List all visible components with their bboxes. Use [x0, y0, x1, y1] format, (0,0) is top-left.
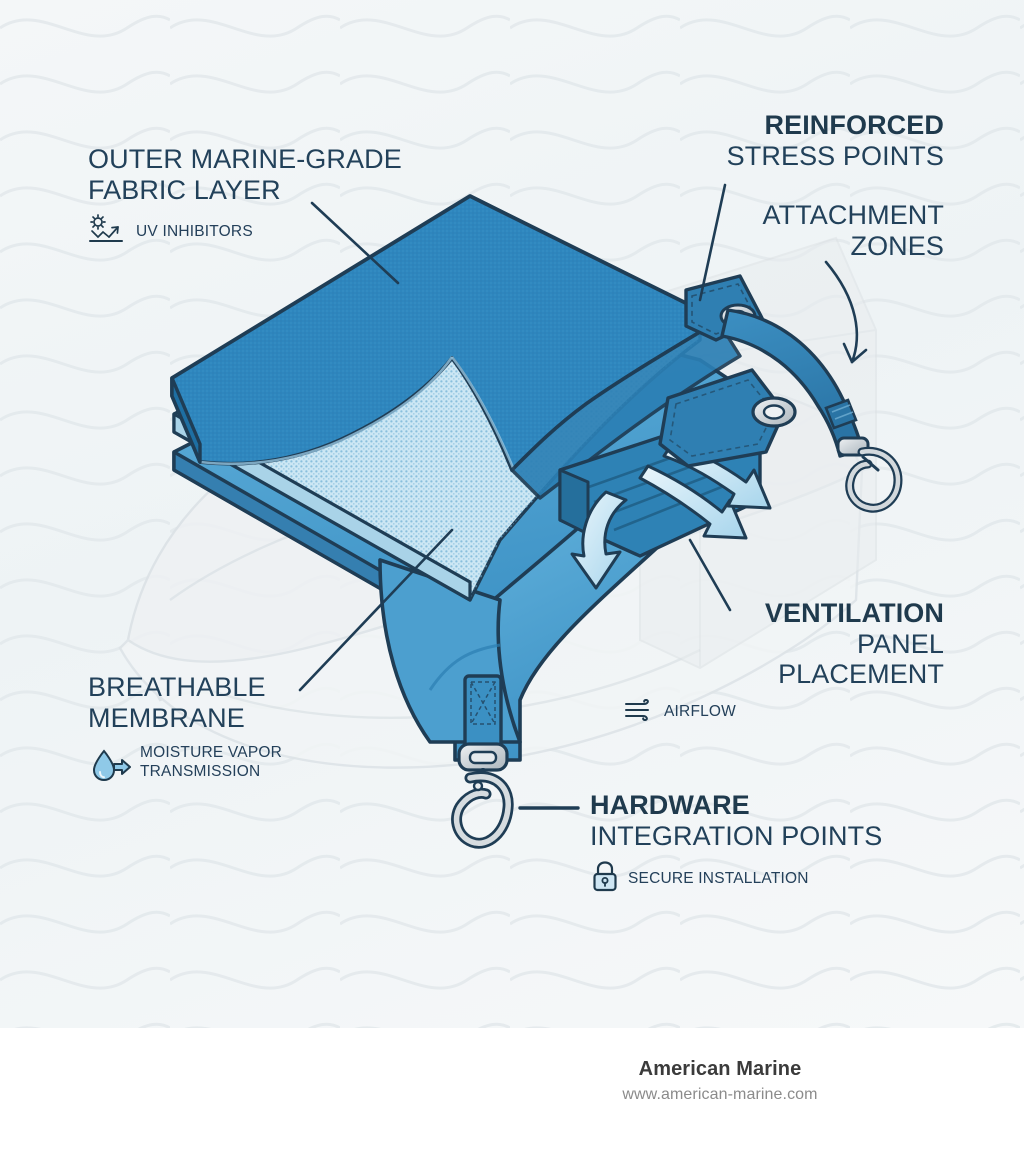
label-hardware-line2: INTEGRATION POINTS — [590, 821, 882, 852]
label-ventilation-line3: PLACEMENT — [624, 659, 944, 690]
leader-attachment-curve — [826, 262, 857, 362]
label-ventilation-line2: PANEL — [624, 629, 944, 660]
label-outer-sub: UV INHIBITORS — [136, 222, 253, 241]
diagram-page: OUTER MARINE-GRADE FABRIC LAYER — [0, 0, 1024, 1154]
label-outer-marine-grade-fabric: OUTER MARINE-GRADE FABRIC LAYER — [88, 144, 402, 249]
label-breathable-line2: MEMBRANE — [88, 703, 282, 734]
page-footer: American Marine www.american-marine.com — [0, 1028, 1024, 1154]
brand-name: American Marine — [540, 1058, 900, 1081]
label-breathable-line1: BREATHABLE — [88, 672, 282, 703]
label-reinforced-line1: REINFORCED — [624, 110, 944, 141]
label-reinforced-line2: STRESS POINTS — [624, 141, 944, 172]
label-breathable-sub: MOISTURE VAPOR TRANSMISSION — [140, 743, 282, 781]
brand-website[interactable]: www.american-marine.com — [540, 1086, 900, 1104]
label-hardware-sub: SECURE INSTALLATION — [628, 869, 809, 888]
label-hardware-line1: HARDWARE — [590, 790, 882, 821]
label-outer-line1: OUTER MARINE-GRADE — [88, 144, 402, 175]
snap-hook-clip — [457, 744, 509, 843]
label-reinforced-stress-points: REINFORCED STRESS POINTS — [624, 110, 944, 171]
water-droplet-icon — [88, 745, 132, 790]
label-outer-line2: FABRIC LAYER — [88, 175, 402, 206]
label-breathable-sub-line2: TRANSMISSION — [140, 763, 260, 780]
bottom-hardware-assembly — [457, 676, 509, 843]
label-breathable-membrane: BREATHABLE MEMBRANE MOISTURE VAPOR TRANS… — [88, 672, 282, 790]
label-ventilation-sub: AIRFLOW — [664, 702, 736, 721]
carabiner-clip-right — [838, 438, 898, 508]
label-breathable-sub-line1: MOISTURE VAPOR — [140, 744, 282, 761]
label-attachment-zones: ATTACHMENT ZONES — [644, 200, 944, 261]
sun-deflect-icon — [88, 214, 128, 249]
label-ventilation-line1: VENTILATION — [624, 598, 944, 629]
label-attachment-line1: ATTACHMENT — [644, 200, 944, 231]
padlock-icon — [590, 860, 620, 897]
wind-icon — [624, 699, 656, 726]
diagram-canvas: OUTER MARINE-GRADE FABRIC LAYER — [0, 0, 1024, 1028]
label-ventilation-panel-placement: VENTILATION PANEL PLACEMENT AIRFLOW — [624, 598, 944, 726]
label-attachment-line2: ZONES — [644, 231, 944, 262]
grommet-lower — [753, 398, 795, 426]
label-hardware-integration-points: HARDWARE INTEGRATION POINTS SECURE INSTA… — [590, 790, 882, 897]
